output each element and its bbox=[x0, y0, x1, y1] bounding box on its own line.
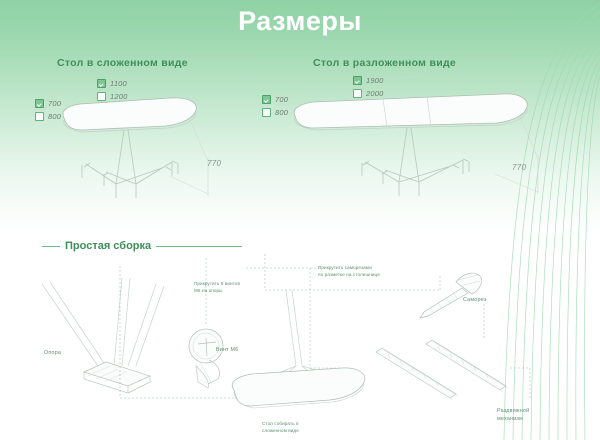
section-heading-unfolded: Стол в разложенном виде bbox=[313, 57, 456, 69]
option-label: 700 bbox=[48, 99, 61, 108]
part-label-mechanism: Раздвижной механизм bbox=[497, 408, 529, 423]
option-folded-depth-700[interactable]: 700 bbox=[35, 98, 61, 109]
option-unfolded-depth-800[interactable]: 800 bbox=[262, 107, 288, 118]
option-label: 800 bbox=[275, 108, 288, 117]
checkbox-checked-icon[interactable] bbox=[353, 76, 362, 85]
divider-left bbox=[42, 246, 60, 247]
option-label: 1200 bbox=[110, 92, 128, 101]
unfolded-depth-options[interactable]: 700 800 bbox=[262, 94, 288, 120]
divider-right bbox=[156, 246, 242, 247]
folded-width-options[interactable]: 1100 1200 bbox=[97, 78, 128, 104]
section-heading-folded: Стол в сложенном виде bbox=[57, 57, 188, 69]
page-title: Размеры bbox=[0, 6, 600, 37]
assembly-heading: Простая сборка bbox=[65, 240, 151, 252]
option-folded-width-1200[interactable]: 1200 bbox=[97, 91, 128, 102]
folded-height-dimension: 770 bbox=[207, 159, 221, 168]
slide-canvas: Размеры Стол в сложенном виде Стол в раз… bbox=[0, 0, 600, 440]
part-label-opora: Опора bbox=[44, 350, 61, 358]
checkbox-checked-icon[interactable] bbox=[97, 79, 106, 88]
folded-depth-options[interactable]: 700 800 bbox=[35, 98, 61, 124]
option-unfolded-length-1900[interactable]: 1900 bbox=[353, 75, 384, 86]
option-unfolded-length-2000[interactable]: 2000 bbox=[353, 88, 384, 99]
note-screws: Прикрутить саморезами по разметке на сто… bbox=[318, 265, 380, 278]
checkbox-empty-icon[interactable] bbox=[353, 89, 362, 98]
option-label: 800 bbox=[48, 112, 61, 121]
assembly-section-header: Простая сборка bbox=[42, 238, 242, 254]
option-label: 700 bbox=[275, 95, 288, 104]
part-label-samorez: Саморез bbox=[463, 297, 486, 305]
option-label: 2000 bbox=[366, 89, 384, 98]
part-label-bolt: Винт М6 bbox=[216, 347, 238, 355]
note-bolts: Прикрутить 8 винтов М6 на опоры bbox=[194, 281, 240, 294]
option-label: 1100 bbox=[110, 79, 127, 88]
checkbox-checked-icon[interactable] bbox=[262, 95, 271, 104]
unfolded-height-dimension: 770 bbox=[512, 163, 526, 172]
option-label: 1900 bbox=[366, 76, 384, 85]
option-folded-width-1100[interactable]: 1100 bbox=[97, 78, 128, 89]
checkbox-checked-icon[interactable] bbox=[35, 99, 44, 108]
option-unfolded-depth-700[interactable]: 700 bbox=[262, 94, 288, 105]
option-folded-depth-800[interactable]: 800 bbox=[35, 111, 61, 122]
checkbox-empty-icon[interactable] bbox=[97, 92, 106, 101]
note-assemble-folded: Стол собирать в сложенном виде bbox=[262, 421, 299, 434]
checkbox-empty-icon[interactable] bbox=[262, 108, 271, 117]
checkbox-empty-icon[interactable] bbox=[35, 112, 44, 121]
unfolded-length-options[interactable]: 1900 2000 bbox=[353, 75, 384, 101]
